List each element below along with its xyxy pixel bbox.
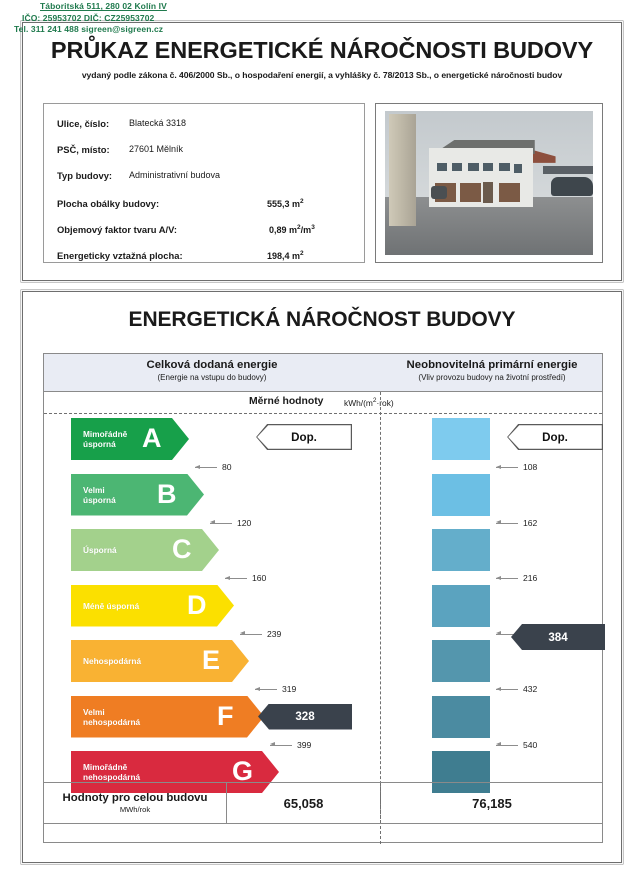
col-right-title: Neobnovitelná primární energie xyxy=(380,359,604,371)
energy-class-arrow-A: Mimořádně úspornáA xyxy=(71,418,189,460)
scale-tick-right-162: 162 xyxy=(496,518,537,528)
energy-scale-area: Mimořádně úspornáA80Velmi úspornáB120Úsp… xyxy=(44,414,602,844)
tick-arrow-icon xyxy=(496,467,518,468)
energy-class-letter-E: E xyxy=(202,647,220,674)
page-title: PRŮKAZ ENERGETICKÉ NÁROČNOSTI BUDOVY xyxy=(23,37,621,64)
building-info-label: PSČ, místo: xyxy=(57,144,110,155)
scale-tick-right-540: 540 xyxy=(496,740,537,750)
energy-class-label-C: Úsporná xyxy=(83,545,117,555)
building-info-row: PSČ, místo:27601 Mělník xyxy=(57,144,357,160)
energy-class-letter-G: G xyxy=(232,758,253,785)
building-photo-frame xyxy=(375,103,603,263)
value-marker-left: 328 xyxy=(258,704,352,730)
value-marker-right: 384 xyxy=(511,624,605,650)
building-info-row: Typ budovy:Administrativní budova xyxy=(57,170,357,186)
tick-arrow-icon xyxy=(496,523,518,524)
energy-class-label-B: Velmi úsporná xyxy=(83,485,116,505)
building-info-value: 27601 Mělník xyxy=(129,144,183,154)
summary-label: Hodnoty pro celou budovu xyxy=(63,792,208,804)
recommended-label-left: Dop. xyxy=(291,431,317,444)
energy-class-letter-B: B xyxy=(157,481,177,508)
building-photo xyxy=(385,111,593,255)
energy-class-letter-D: D xyxy=(187,592,207,619)
tick-arrow-icon xyxy=(210,523,232,524)
summary-value-delivered: 65,058 xyxy=(227,783,380,823)
column-header-delivered-energy: Celková dodaná energie (Energie na vstup… xyxy=(44,359,380,382)
energy-class-arrow-B: Velmi úspornáB xyxy=(71,474,204,516)
primary-energy-bar-3 xyxy=(432,529,490,571)
building-info-label: Energeticky vztažná plocha: xyxy=(57,250,183,261)
company-stamp: Táboritská 511, 280 02 Kolín IV IČO: 259… xyxy=(14,1,167,36)
summary-value-primary: 76,185 xyxy=(380,783,604,823)
col-left-title: Celková dodaná energie xyxy=(44,359,380,371)
value-marker-left-text: 328 xyxy=(295,710,314,723)
identification-panel: PRŮKAZ ENERGETICKÉ NÁROČNOSTI BUDOVY vyd… xyxy=(22,22,622,281)
building-info-row: Energeticky vztažná plocha:198,4 m2 xyxy=(57,250,357,266)
page-subtitle: vydaný podle zákona č. 406/2000 Sb., o h… xyxy=(23,70,621,80)
tick-arrow-icon xyxy=(225,578,247,579)
recommended-label-right: Dop. xyxy=(542,431,568,444)
energy-class-label-D: Méně úsporná xyxy=(83,601,139,611)
building-info-value: 0,89 m2/m3 xyxy=(269,224,315,235)
building-info-label: Plocha obálky budovy: xyxy=(57,198,159,209)
energy-class-label-A: Mimořádně úsporná xyxy=(83,429,127,449)
scale-tick-left-160: 160 xyxy=(225,573,266,583)
building-info-label: Objemový faktor tvaru A/V: xyxy=(57,224,177,235)
building-info-label: Typ budovy: xyxy=(57,170,112,181)
tick-arrow-icon xyxy=(496,689,518,690)
scale-tick-right-216: 216 xyxy=(496,573,537,583)
tick-arrow-icon xyxy=(240,634,262,635)
tick-arrow-icon xyxy=(496,745,518,746)
whole-building-summary-row: Hodnoty pro celou budovu MWh/rok 65,058 … xyxy=(43,782,603,824)
units-row: Měrné hodnoty kWh/(m2·rok) xyxy=(44,392,602,414)
scale-tick-left-80: 80 xyxy=(195,462,232,472)
energy-performance-panel: ENERGETICKÁ NÁROČNOST BUDOVY Celková dod… xyxy=(22,291,622,863)
energy-scale-grid: Celková dodaná energie (Energie na vstup… xyxy=(43,353,603,843)
summary-label-cell: Hodnoty pro celou budovu MWh/rok xyxy=(44,783,227,823)
energy-class-arrow-C: ÚspornáC xyxy=(71,529,219,571)
energy-class-arrow-E: NehospodárnáE xyxy=(71,640,249,682)
scale-tick-left-120: 120 xyxy=(210,518,251,528)
building-info-label: Ulice, číslo: xyxy=(57,118,109,129)
primary-energy-bar-4 xyxy=(432,585,490,627)
energy-class-label-F: Velmi nehospodárná xyxy=(83,707,140,727)
energy-class-label-E: Nehospodárná xyxy=(83,656,141,666)
scale-column-headers: Celková dodaná energie (Energie na vstup… xyxy=(44,354,602,392)
stamp-address: Táboritská 511, 280 02 Kolín IV xyxy=(14,1,167,13)
tick-arrow-icon xyxy=(195,467,217,468)
section-title: ENERGETICKÁ NÁROČNOST BUDOVY xyxy=(23,308,621,332)
building-info-row: Objemový faktor tvaru A/V:0,89 m2/m3 xyxy=(57,224,357,240)
scale-tick-right-108: 108 xyxy=(496,462,537,472)
tick-arrow-icon xyxy=(270,745,292,746)
primary-energy-bar-1 xyxy=(432,418,490,460)
scale-tick-left-239: 239 xyxy=(240,629,281,639)
energy-class-arrow-F: Velmi nehospodárnáF xyxy=(71,696,264,738)
energy-class-letter-F: F xyxy=(217,703,234,730)
scale-tick-left-319: 319 xyxy=(255,684,296,694)
recommended-marker-left: Dop. xyxy=(256,424,352,450)
building-info-table: Ulice, číslo:Blatecká 3318PSČ, místo:276… xyxy=(43,103,365,263)
building-info-value: Administrativní budova xyxy=(129,170,220,180)
col-left-subtitle: (Energie na vstupu do budovy) xyxy=(44,373,380,382)
building-info-value: 555,3 m2 xyxy=(267,198,304,209)
primary-energy-bar-2 xyxy=(432,474,490,516)
units-label: Měrné hodnoty xyxy=(249,396,323,407)
stamp-contact: Tel. 311 241 488 sigreen@sigreen.cz xyxy=(14,24,167,36)
energy-class-letter-A: A xyxy=(142,425,162,452)
energy-class-arrow-D: Méně úspornáD xyxy=(71,585,234,627)
primary-energy-bar-6 xyxy=(432,696,490,738)
certificate-page: PRŮKAZ ENERGETICKÉ NÁROČNOSTI BUDOVY vyd… xyxy=(0,0,638,879)
column-header-primary-energy: Neobnovitelná primární energie (Vliv pro… xyxy=(380,359,604,382)
energy-class-letter-C: C xyxy=(172,536,192,563)
value-marker-right-text: 384 xyxy=(548,631,567,644)
scale-tick-left-399: 399 xyxy=(270,740,311,750)
summary-unit: MWh/rok xyxy=(120,805,150,814)
building-info-value: Blatecká 3318 xyxy=(129,118,186,128)
units-value: kWh/(m2·rok) xyxy=(344,397,394,408)
tick-arrow-icon xyxy=(496,578,518,579)
building-info-row: Ulice, číslo:Blatecká 3318 xyxy=(57,118,357,134)
stamp-ico-dic: IČO: 25953702 DIČ: CZ25953702 xyxy=(14,13,167,25)
col-right-subtitle: (Vliv provozu budovy na životní prostřed… xyxy=(380,373,604,382)
building-info-value: 198,4 m2 xyxy=(267,250,304,261)
building-info-row: Plocha obálky budovy:555,3 m2 xyxy=(57,198,357,214)
energy-class-label-G: Mimořádně nehospodárná xyxy=(83,762,140,782)
primary-energy-bar-5 xyxy=(432,640,490,682)
recommended-marker-right: Dop. xyxy=(507,424,603,450)
tick-arrow-icon xyxy=(255,689,277,690)
scale-tick-right-432: 432 xyxy=(496,684,537,694)
